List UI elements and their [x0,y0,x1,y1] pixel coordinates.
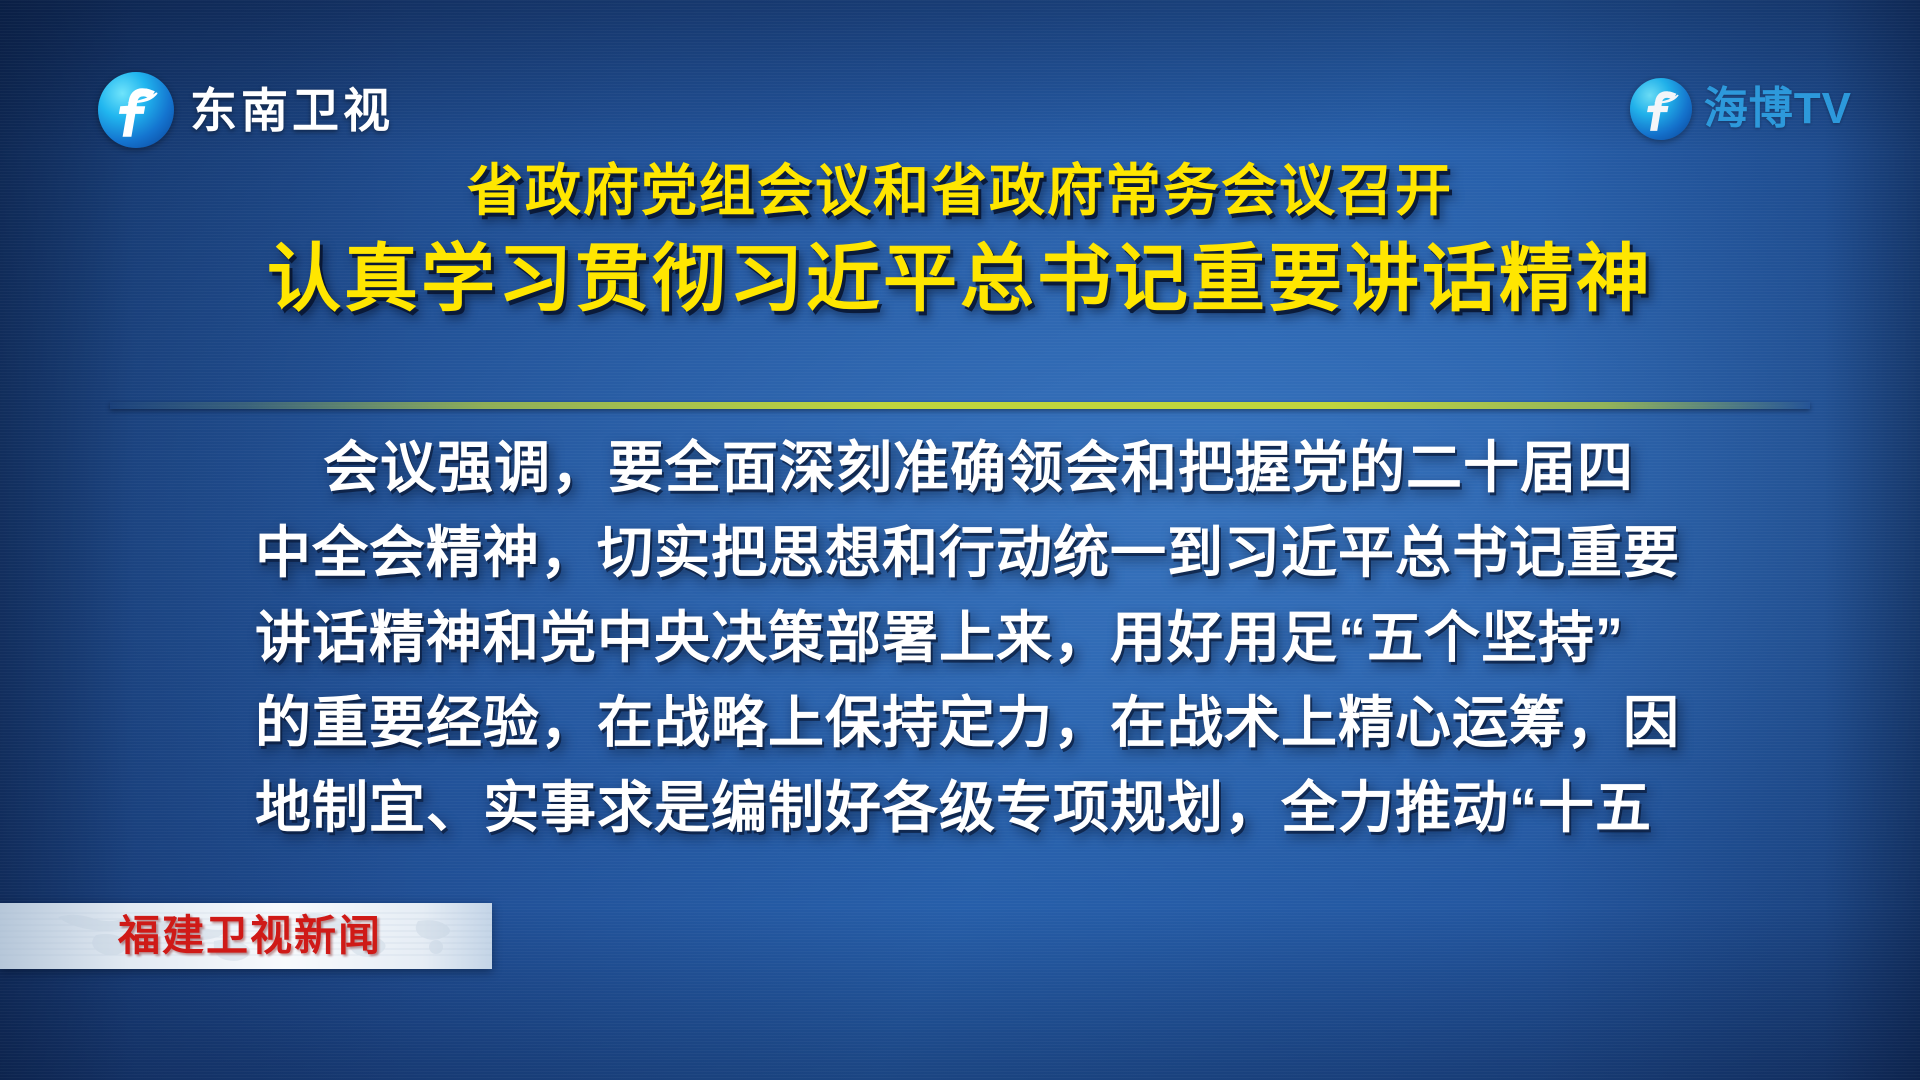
channel-logo: 东南卫视 [98,72,394,148]
headline-line-1: 省政府党组会议和省政府常务会议召开 [0,158,1920,224]
channel-name-label: 东南卫视 [190,87,394,134]
f-bird-logo-icon [1630,78,1692,140]
body-line: 的重要经验，在战略上保持定力，在战术上精心运筹，因 [255,680,1675,765]
body-line: 会议强调，要全面深刻准确领会和把握党的二十届四 [255,425,1675,510]
headline-block: 省政府党组会议和省政府常务会议召开 认真学习贯彻习近平总书记重要讲话精神 [0,158,1920,325]
program-name-label: 福建卫视新闻 [118,915,382,957]
f-bird-logo-icon [98,72,174,148]
body-paragraph: 会议强调，要全面深刻准确领会和把握党的二十届四 中全会精神，切实把思想和行动统一… [255,425,1675,851]
watermark-name-label: 海博TV [1704,87,1852,131]
body-line: 中全会精神，切实把思想和行动统一到习近平总书记重要 [255,510,1675,595]
program-banner: 福建卫视新闻 [0,903,492,969]
headline-line-2: 认真学习贯彻习近平总书记重要讲话精神 [0,232,1920,325]
haibo-tv-watermark: 海博TV [1630,78,1852,140]
body-line: 地制宜、实事求是编制好各级专项规划，全力推动“十五 [255,765,1675,850]
headline-divider [110,402,1810,409]
broadcast-screen: 东南卫视 海博TV 省政府党组会议和省政府常务会议召开 认真学习贯彻习近平总书记… [0,0,1920,1080]
body-line: 讲话精神和党中央决策部署上来，用好用足“五个坚持” [255,595,1675,680]
